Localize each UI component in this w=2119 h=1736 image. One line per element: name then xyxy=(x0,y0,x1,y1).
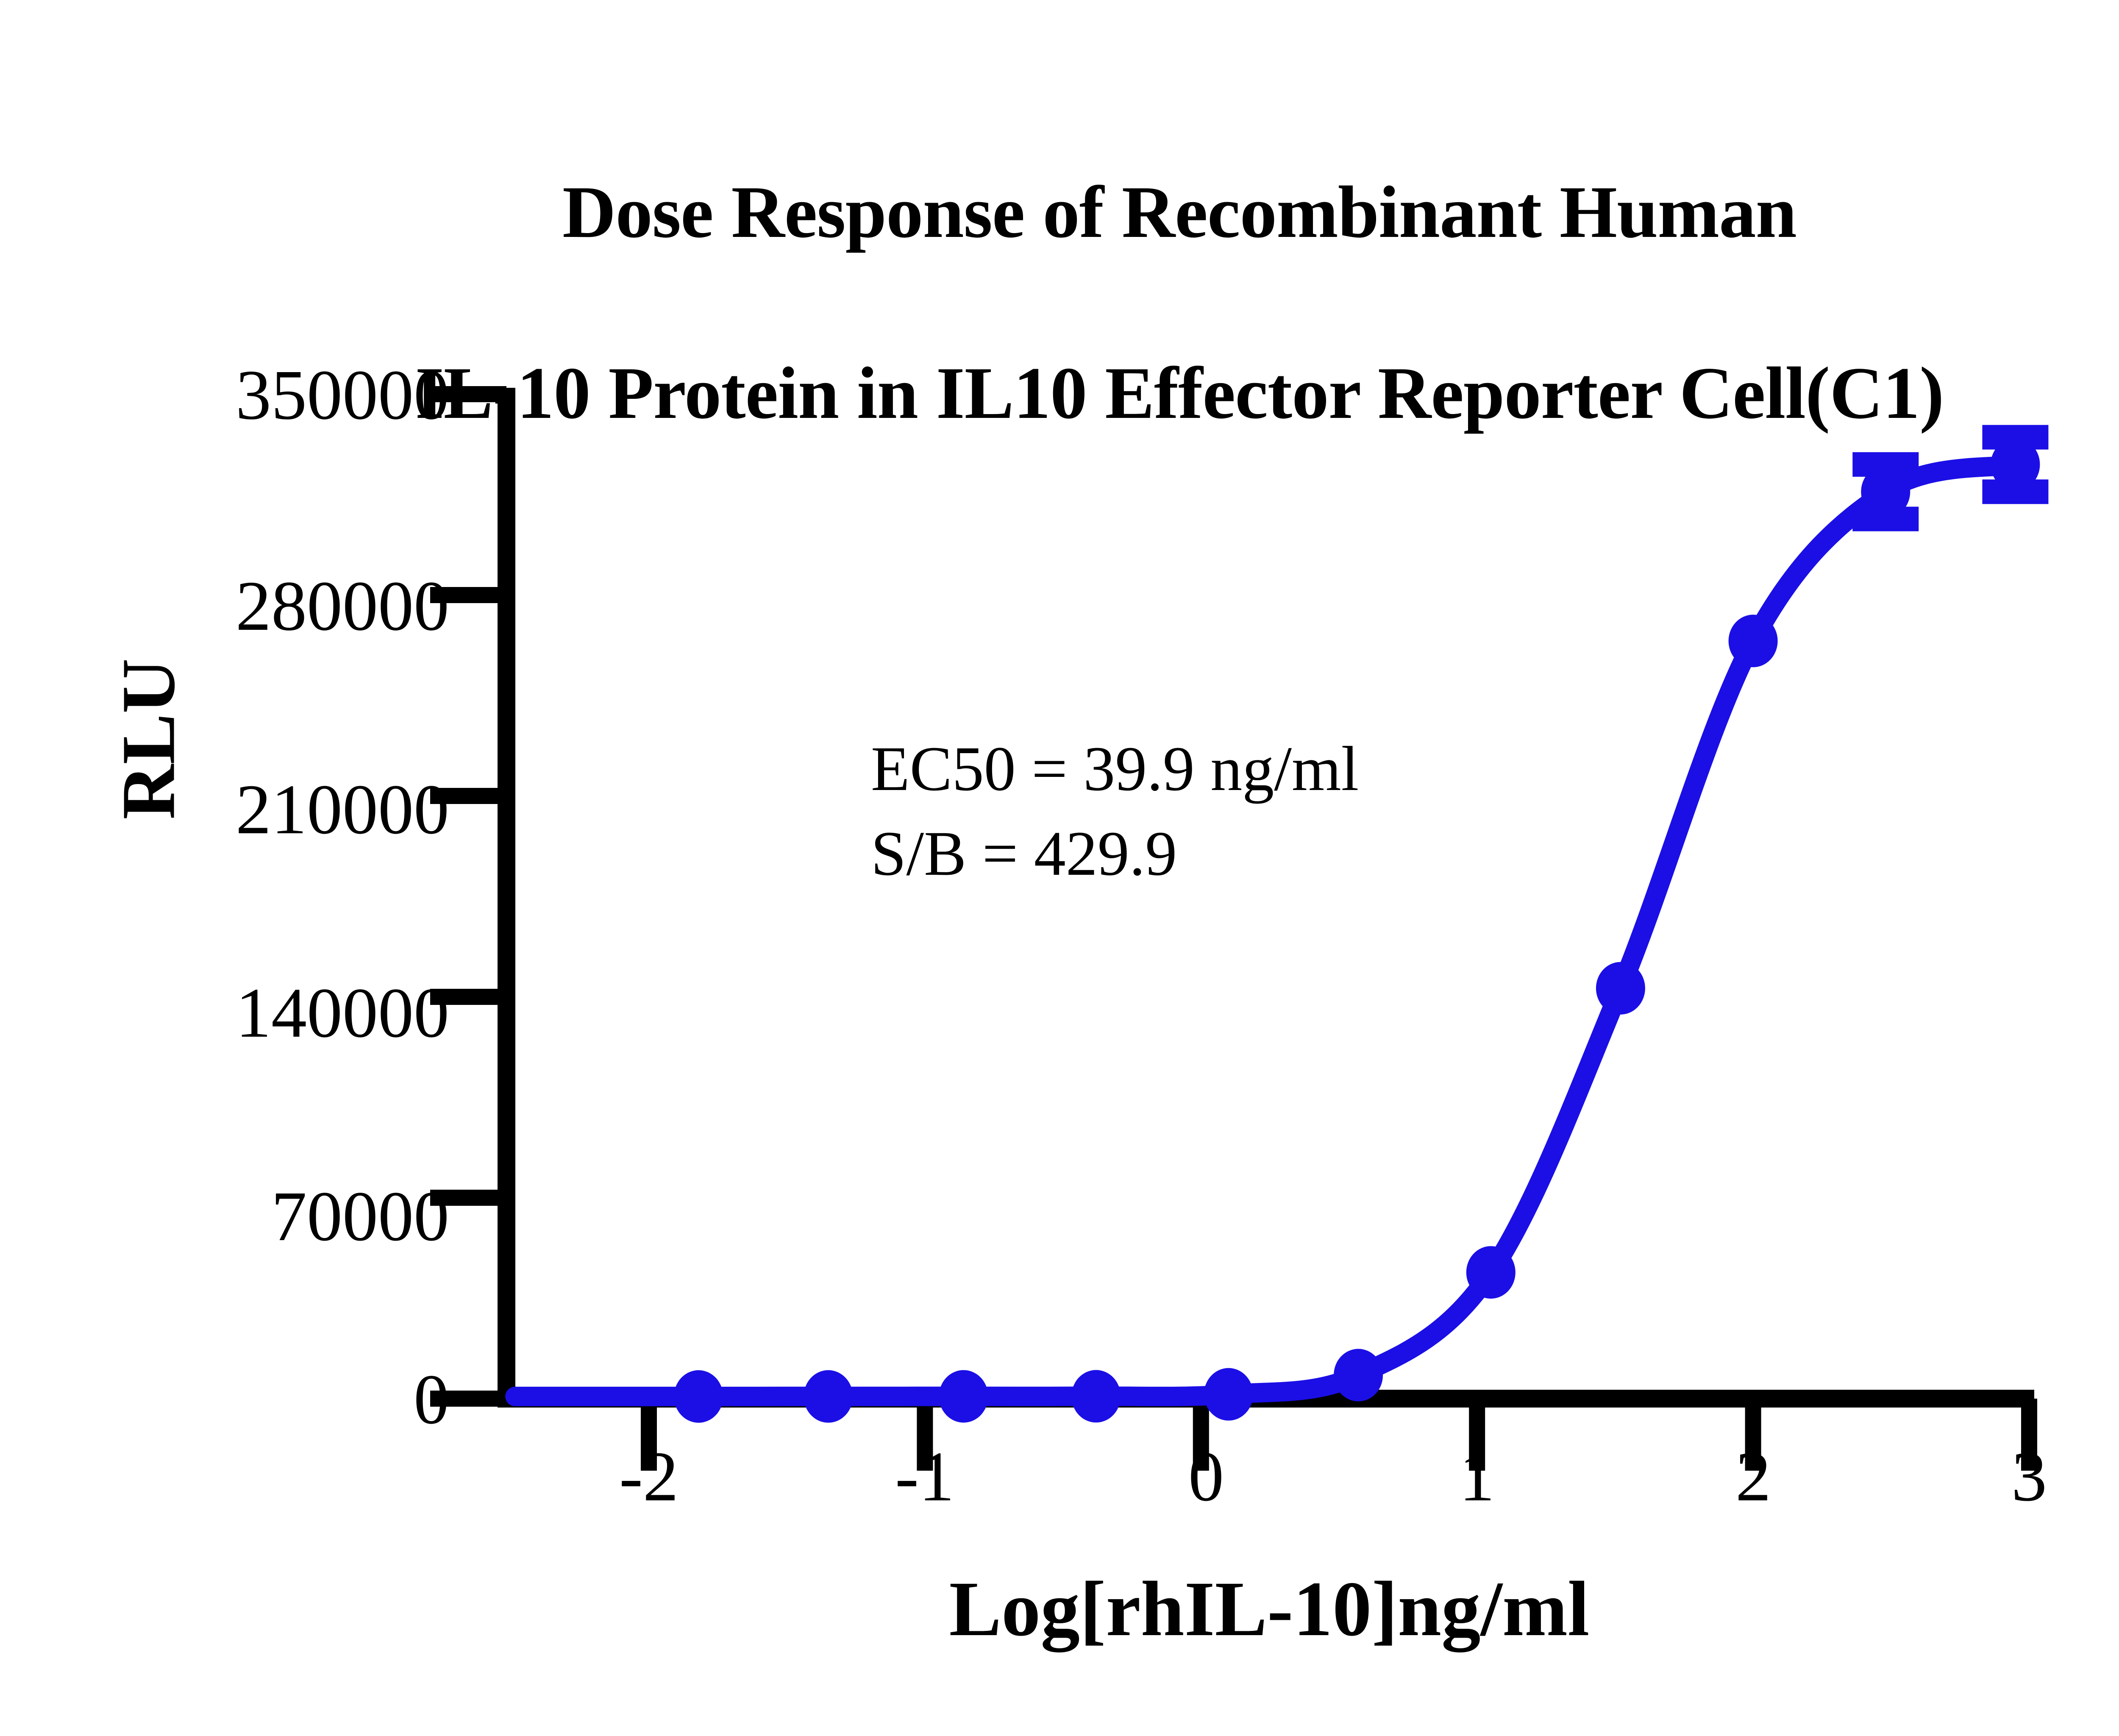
data-point-marker xyxy=(1596,962,1645,1015)
series-curve xyxy=(515,465,2015,1397)
data-point-marker xyxy=(939,1370,988,1423)
data-point-marker xyxy=(1204,1368,1253,1421)
data-point-marker xyxy=(1466,1246,1516,1299)
series-markers xyxy=(674,438,2040,1423)
x-axis-ticks xyxy=(649,1399,2029,1471)
chart-figure: Dose Response of Recombinant Human IL-10… xyxy=(0,0,2119,1736)
data-point-marker xyxy=(674,1370,723,1423)
data-point-marker xyxy=(1991,438,2040,491)
plot-area xyxy=(0,0,2119,1736)
data-point-marker xyxy=(804,1370,853,1423)
data-point-marker xyxy=(1729,615,1778,667)
data-point-marker xyxy=(1861,465,1910,518)
data-point-marker xyxy=(1071,1370,1121,1422)
data-point-marker xyxy=(1334,1349,1383,1402)
y-axis-ticks xyxy=(430,394,506,1399)
axes-group xyxy=(498,388,2034,1404)
